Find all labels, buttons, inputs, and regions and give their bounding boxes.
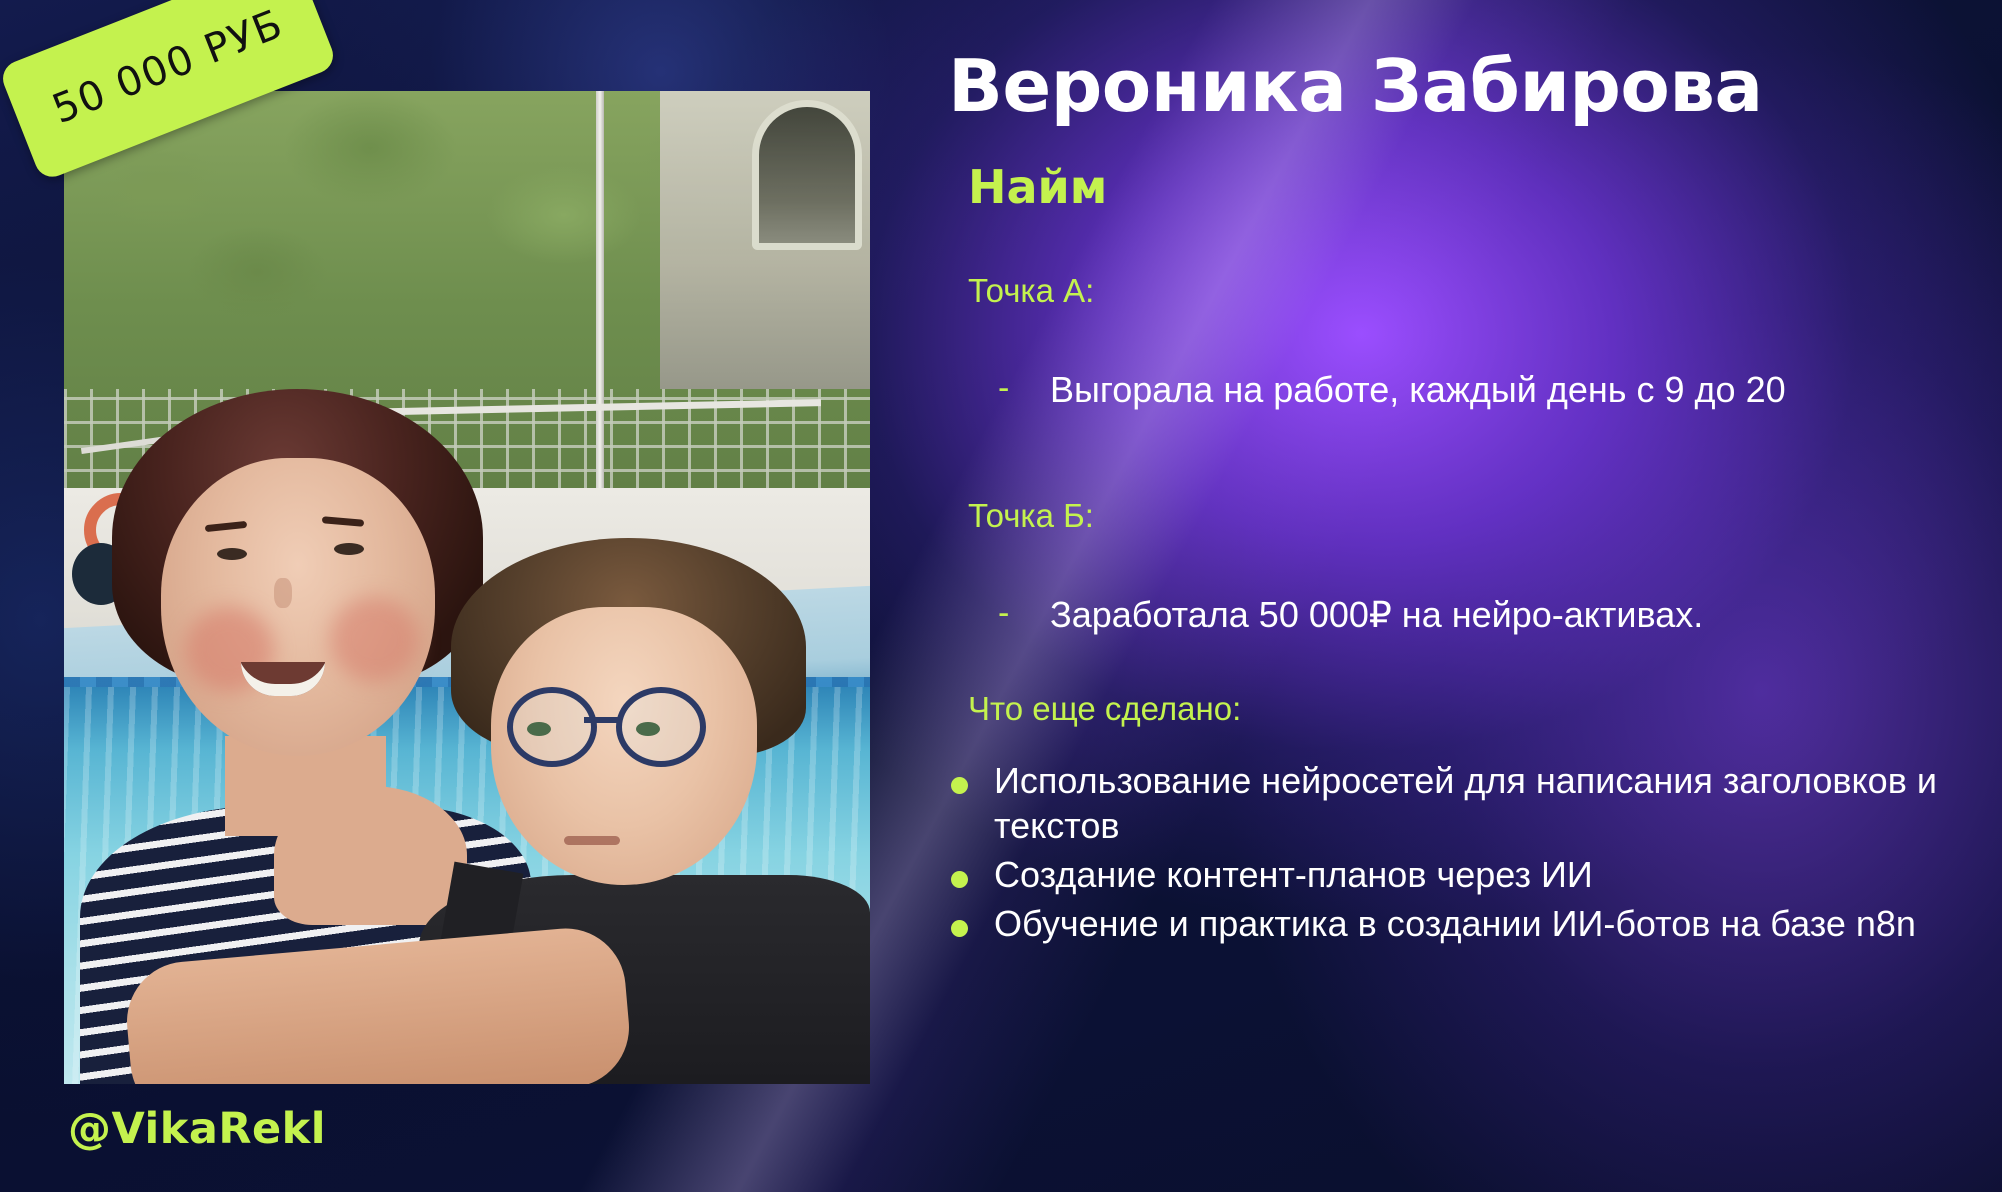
photo-woman-nose <box>274 578 292 608</box>
bullet-dot-icon <box>940 852 994 888</box>
dash-marker-icon: - <box>998 367 1050 410</box>
list-item-text: Создание контент-планов через ИИ <box>994 852 1593 897</box>
photo-archway <box>752 100 862 250</box>
photo-boy-eye-left <box>527 722 551 736</box>
point-b-item-text: Заработала 50 000₽ на нейро-активах. <box>1050 592 1703 637</box>
page-title: Вероника Забирова <box>948 44 1763 128</box>
point-a-label: Точка А: <box>968 272 1094 310</box>
dash-marker-icon: - <box>998 592 1050 635</box>
extras-label: Что еще сделано: <box>968 690 1241 728</box>
point-a-item: - Выгорала на работе, каждый день с 9 до… <box>998 367 1786 412</box>
point-b-label: Точка Б: <box>968 497 1094 535</box>
social-handle: @VikaRekl <box>68 1104 326 1154</box>
list-item: Создание контент-планов через ИИ <box>940 852 2002 897</box>
photo-boy-eye-right <box>636 722 660 736</box>
photo-boy-glasses-bridge <box>584 717 622 723</box>
list-item-text: Обучение и практика в создании ИИ-ботов … <box>994 901 1916 946</box>
bullet-dot-icon <box>940 901 994 937</box>
list-item: Обучение и практика в создании ИИ-ботов … <box>940 901 2002 946</box>
photo-building <box>660 91 870 389</box>
participant-photo <box>64 91 870 1084</box>
list-item: Использование нейросетей для написания з… <box>940 758 2002 848</box>
content-panel: Вероника Забирова Найм Точка А: - Выгора… <box>940 0 2002 1192</box>
photo-boy-glasses-left <box>507 687 597 767</box>
photo-woman-cheek-right <box>330 597 419 681</box>
extras-list: Использование нейросетей для написания з… <box>940 758 2002 950</box>
page-subtitle: Найм <box>968 160 1107 214</box>
point-b-item: - Заработала 50 000₽ на нейро-активах. <box>998 592 1703 637</box>
bullet-dot-icon <box>940 758 994 794</box>
photo-woman-eye-left <box>217 548 247 560</box>
photo-boy-glasses-right <box>616 687 706 767</box>
point-a-item-text: Выгорала на работе, каждый день с 9 до 2… <box>1050 367 1786 412</box>
list-item-text: Использование нейросетей для написания з… <box>994 758 1969 848</box>
photo-pole <box>596 91 604 548</box>
slide-root: 50 000 РУБ @VikaRekl Вероника Забирова Н… <box>0 0 2002 1192</box>
photo-boy-mouth <box>564 836 620 845</box>
photo-woman-eye-right <box>334 543 364 555</box>
